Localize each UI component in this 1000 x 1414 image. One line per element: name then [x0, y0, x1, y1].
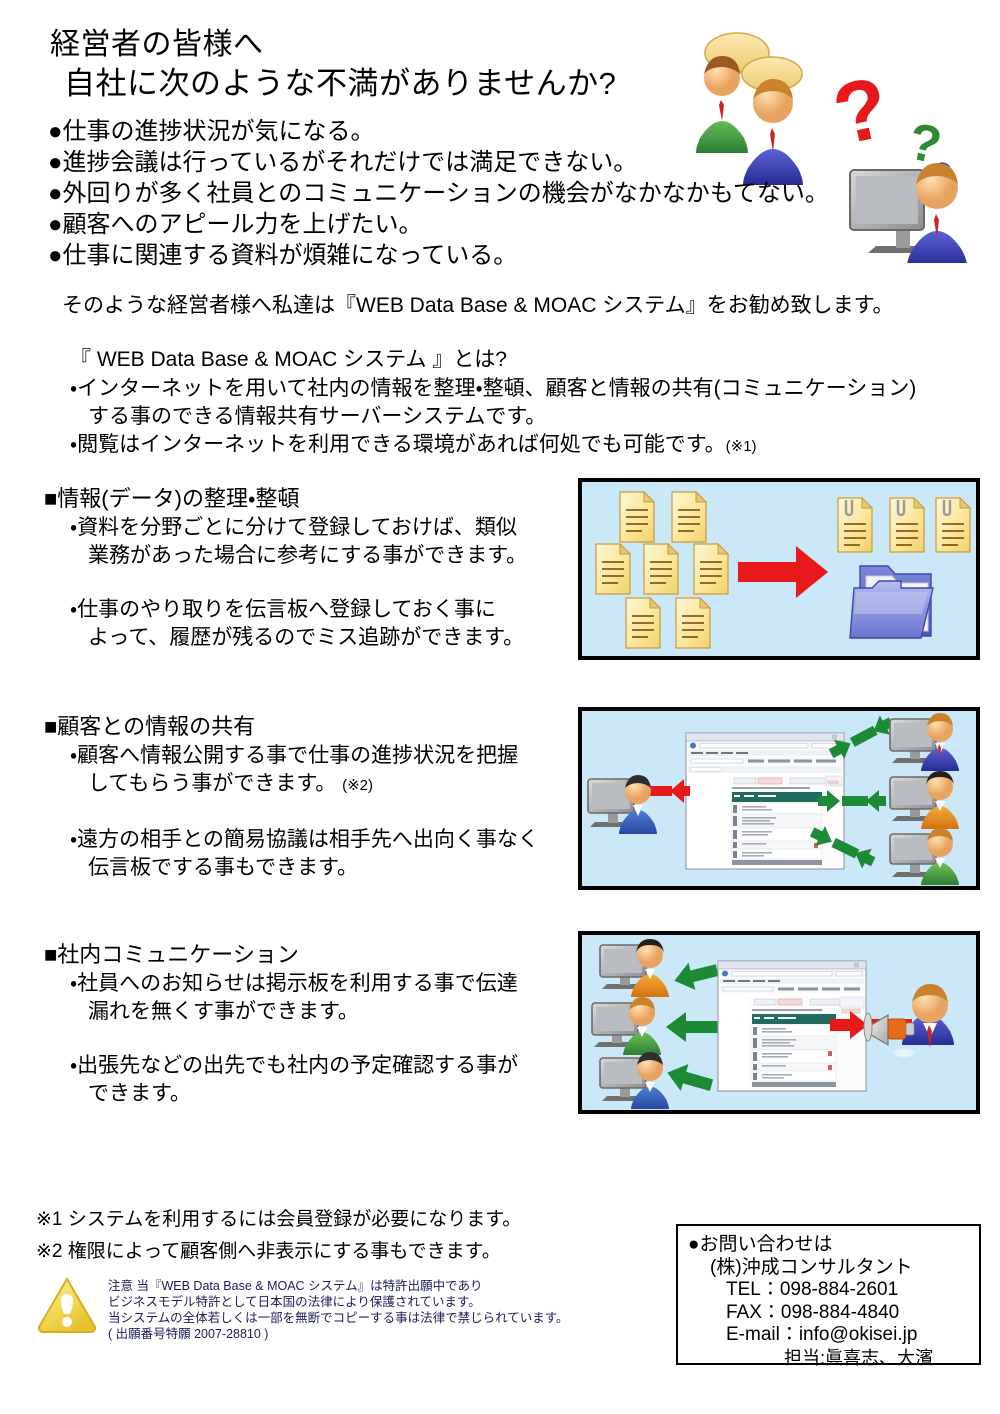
feature-section-customer-sharing: ■顧客との情報の共有 ・顧客へ情報公開する事で仕事の進捗状況を把握 してもらう事…	[44, 712, 574, 882]
feature-title: ■社内コミュニケーション	[44, 940, 574, 970]
legal-notice: 注意 当『WEB Data Base & MOAC システム』は特許出願中であり…	[36, 1276, 556, 1342]
feature-paragraph: ・遠方の相手との簡易協議は相手先へ出向く事なく	[44, 826, 574, 854]
feature-paragraph: ・仕事のやり取りを伝言板へ登録しておく事に	[44, 596, 574, 624]
person-at-computer-left-3-icon	[600, 1052, 669, 1109]
whatis-line: する事のできる情報共有サーバーシステムです。	[70, 403, 995, 431]
internal-broadcast-panel	[578, 931, 980, 1114]
page-header: 経営者の皆様へ 自社に次のような不満がありませんか?	[50, 26, 750, 104]
legal-notice-line: ( 出願番号特願 2007-28810 )	[108, 1326, 569, 1342]
contact-fax: FAX：098-884-4840	[688, 1302, 969, 1325]
green-arrow-bottom-icon	[663, 1059, 715, 1099]
pain-points-list: ●仕事の進捗状況が気になる。 ●進捗会議は行っているがそれだけでは満足できない。…	[48, 116, 868, 271]
legal-notice-line: 注意 当『WEB Data Base & MOAC システム』は特許出願中であり	[108, 1278, 569, 1294]
feature-paragraph: 伝言板でする事もできます。	[44, 854, 574, 882]
svg-text:?: ?	[903, 112, 946, 175]
warning-triangle-icon	[36, 1276, 98, 1339]
person-at-computer-left-2-icon	[592, 997, 661, 1055]
person-at-computer-right-2-icon	[890, 771, 959, 829]
legal-notice-line: ビジネスモデル特許として日本国の法律により保護されています。	[108, 1294, 569, 1310]
contact-company: (株)沖成コンサルタント	[688, 1257, 969, 1280]
pain-point-item: ●外回りが多く社員とのコミュニケーションの機会がなかなかもてない。	[48, 178, 868, 209]
footnote-item: ※1 システムを利用するには会員登録が必要になります。	[36, 1204, 596, 1236]
feature-title: ■顧客との情報の共有	[44, 712, 574, 742]
pain-point-item: ●進捗会議は行っているがそれだけでは満足できない。	[48, 147, 868, 178]
clipped-document-icon-group	[838, 498, 970, 552]
documents-to-folder-panel	[578, 478, 980, 660]
contact-email[interactable]: E-mail：info@okisei.jp	[688, 1324, 969, 1347]
spacer	[44, 570, 574, 596]
customer-sharing-panel	[578, 707, 980, 890]
spacer	[44, 1026, 574, 1052]
feature-section-data-organization: ■情報(データ)の整理・整頓 ・資料を分野ごとに分けて登録しておけば、類似 業務…	[44, 484, 574, 652]
footnote-ref-1: (※1)	[726, 438, 757, 455]
person-at-computer-left-icon	[588, 775, 657, 834]
pain-point-item: ●仕事の進捗状況が気になる。	[48, 116, 868, 147]
feature-paragraph: ・顧客へ情報公開する事で仕事の進捗状況を把握	[44, 742, 574, 770]
header-line-1: 経営者の皆様へ	[50, 26, 750, 64]
contact-person: 担当:眞喜志、大濱	[688, 1347, 969, 1370]
whatis-line-text: ・閲覧はインターネットを利用できる環境があれば何処でも可能です。	[70, 433, 726, 456]
green-double-arrow-mid-icon	[818, 790, 886, 812]
feature-paragraph: 業務があった場合に参考にする事ができます。	[44, 542, 574, 570]
feature-paragraph: よって、履歴が残るのでミス追跡ができます。	[44, 624, 574, 652]
feature-paragraph: 漏れを無くす事ができます。	[44, 998, 574, 1026]
whatis-line: ・インターネットを用いて社内の情報を整理・整頓、顧客と情報の共有(コミュニケーシ…	[70, 375, 995, 403]
contact-heading: ●お問い合わせは	[688, 1234, 969, 1257]
pain-point-item: ●仕事に関連する資料が煩雑になっている。	[48, 240, 868, 271]
legal-notice-line: 当システムの全体若しくは一部を無断でコピーする事は法律で禁じられています。	[108, 1310, 569, 1326]
folder-icon	[850, 566, 933, 638]
svg-text:?: ?	[929, 156, 955, 192]
spacer	[44, 800, 574, 826]
footnote-ref-2: (※2)	[342, 777, 373, 794]
green-arrow-top-icon	[671, 956, 720, 994]
legal-notice-text: 注意 当『WEB Data Base & MOAC システム』は特許出願中であり…	[108, 1276, 569, 1342]
header-line-2: 自社に次のような不満がありませんか?	[50, 64, 750, 104]
feature-paragraph-with-note: してもらう事ができます。 (※2)	[44, 770, 574, 800]
document-icon-group	[596, 492, 728, 648]
person-at-computer-right-3-icon	[890, 828, 959, 885]
footnote-item: ※2 権限によって顧客側へ非表示にする事もできます。	[36, 1236, 596, 1268]
feature-paragraph-text: してもらう事ができます。	[88, 772, 336, 795]
footnotes-list: ※1 システムを利用するには会員登録が必要になります。 ※2 権限によって顧客側…	[36, 1204, 596, 1268]
feature-title: ■情報(データ)の整理・整頓	[44, 484, 574, 514]
feature-paragraph: できます。	[44, 1080, 574, 1108]
pain-point-item: ●顧客へのアピール力を上げたい。	[48, 209, 868, 240]
feature-paragraph: ・社員へのお知らせは掲示板を利用する事で伝達	[44, 970, 574, 998]
red-arrow-icon	[738, 546, 828, 598]
feature-paragraph: ・資料を分野ごとに分けて登録しておけば、類似	[44, 514, 574, 542]
recommendation-line: そのような経営者様へ私達は『WEB Data Base & MOAC システム』…	[62, 292, 894, 320]
whatis-line-with-note: ・閲覧はインターネットを利用できる環境があれば何処でも可能です。(※1)	[70, 431, 995, 461]
contact-tel: TEL：098-884-2601	[688, 1279, 969, 1302]
whatis-block: 『 WEB Data Base & MOAC システム 』とは? ・インターネッ…	[70, 345, 995, 461]
feature-paragraph: ・出張先などの出先でも社内の予定確認する事が	[44, 1052, 574, 1080]
person-at-computer-right-1-icon	[890, 713, 959, 771]
contact-box: ●お問い合わせは (株)沖成コンサルタント TEL：098-884-2601 F…	[676, 1224, 981, 1365]
whatis-title: 『 WEB Data Base & MOAC システム 』とは?	[70, 345, 995, 375]
person-at-computer-left-1-icon	[600, 939, 669, 997]
feature-section-internal-communication: ■社内コミュニケーション ・社員へのお知らせは掲示板を利用する事で伝達 漏れを無…	[44, 940, 574, 1108]
